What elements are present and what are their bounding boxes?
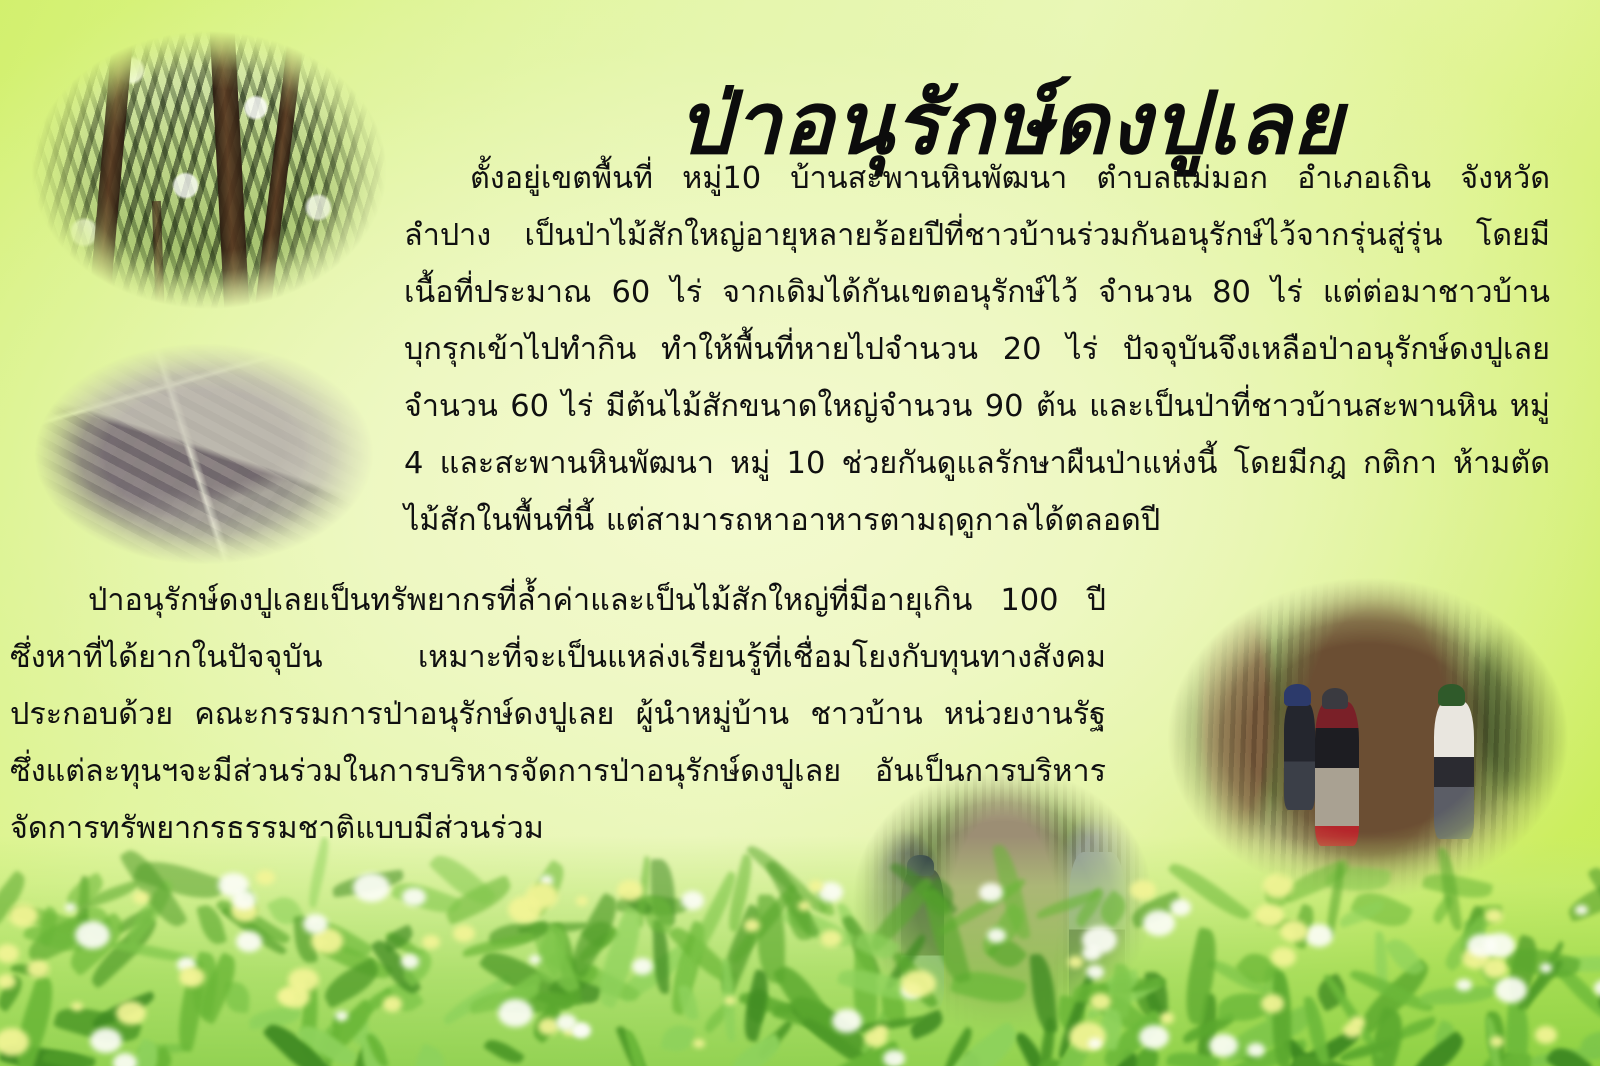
leaf-shape: [556, 965, 601, 997]
leaf-shape: [62, 911, 132, 977]
leaf-shape: [385, 928, 423, 961]
person-figure: [1284, 702, 1315, 810]
tree-trunk-shape: [254, 33, 304, 320]
leaf-shape: [192, 952, 243, 1025]
leaf-shape: [285, 1025, 341, 1066]
leaf-shape: [1419, 986, 1495, 1005]
blossom-shape: [1280, 920, 1308, 942]
leaf-shape: [1270, 1027, 1364, 1066]
leaf-shape: [267, 891, 305, 930]
blossom-shape: [90, 1028, 122, 1053]
leaf-shape: [118, 844, 188, 935]
leaf-shape: [764, 856, 820, 941]
leaf-shape: [667, 920, 736, 989]
leaf-shape: [621, 887, 654, 919]
leaf-shape: [671, 954, 698, 996]
leaf-shape: [1504, 941, 1581, 984]
leaf-shape: [1383, 933, 1426, 981]
blossom-shape: [540, 875, 554, 886]
blossom-shape: [1467, 934, 1496, 958]
blossom-shape: [498, 999, 533, 1027]
leaf-shape: [0, 870, 32, 926]
leaf-shape: [116, 906, 159, 933]
leaf-shape: [581, 915, 619, 953]
leaf-shape: [23, 919, 89, 958]
leaf-shape: [381, 924, 417, 953]
leaf-shape: [215, 894, 291, 951]
leaf-shape: [773, 959, 843, 1048]
leaf-shape: [298, 980, 321, 1058]
leaf-shape: [700, 1002, 733, 1034]
leaf-shape: [1519, 941, 1568, 1011]
leaf-shape: [188, 952, 222, 1019]
leaf-shape: [370, 935, 422, 999]
leaf-shape: [726, 884, 801, 965]
blossom-shape: [1261, 994, 1284, 1012]
cap-shape: [907, 855, 933, 876]
blossom-shape: [422, 935, 439, 949]
intro-paragraph-text: ตั้งอยู่เขตพื้นที่ หมู่10 บ้านสะพานหินพั…: [404, 161, 1550, 538]
blossom-shape: [724, 996, 736, 1006]
blossom-shape: [0, 974, 16, 989]
leaf-shape: [478, 941, 577, 1018]
cap-shape: [1438, 684, 1464, 706]
leaf-shape: [1258, 967, 1290, 1026]
blossom-shape: [232, 890, 257, 910]
blossom-shape: [573, 1024, 588, 1036]
intro-paragraph: ตั้งอยู่เขตพื้นที่ หมู่10 บ้านสะพานหินพั…: [404, 150, 1550, 549]
person-figure: [1069, 852, 1125, 1020]
leaf-shape: [396, 948, 437, 988]
blossom-shape: [529, 955, 541, 964]
leaf-shape: [1304, 995, 1330, 1066]
leaf-shape: [1323, 971, 1384, 1060]
blossom-shape: [576, 896, 588, 906]
leaf-shape: [384, 976, 425, 1018]
leaf-shape: [724, 853, 757, 932]
leaf-shape: [1482, 1052, 1531, 1066]
leaf-shape: [552, 921, 583, 1007]
leaf-shape: [318, 957, 384, 1009]
blossom-shape: [179, 967, 204, 987]
leaf-shape: [365, 1031, 389, 1066]
leaf-shape: [293, 915, 317, 964]
leaf-shape: [721, 959, 735, 1042]
leaf-shape: [590, 907, 650, 1009]
leaf-shape: [713, 903, 768, 995]
person-figure: [1315, 702, 1359, 846]
leaf-shape: [1364, 1007, 1410, 1066]
leaf-shape: [1271, 972, 1292, 1066]
blossom-shape: [1495, 977, 1527, 1002]
blossom-shape: [693, 1039, 705, 1049]
villagers-at-big-teak-photo: [1148, 558, 1588, 918]
blossom-shape: [632, 958, 653, 975]
leaf-shape: [85, 915, 163, 989]
leaf-shape: [840, 1059, 904, 1066]
blossom-shape: [617, 880, 643, 901]
leaf-shape: [439, 974, 514, 1025]
leaf-shape: [1502, 934, 1544, 1004]
leaf-shape: [73, 875, 92, 947]
leaf-shape: [468, 984, 541, 1015]
blossom-shape: [1271, 947, 1296, 967]
aerial-satellite-map-photo: [18, 330, 390, 578]
leaf-shape: [1166, 1048, 1221, 1066]
leaf-shape: [310, 914, 374, 964]
cap-shape: [1284, 684, 1310, 706]
leaf-shape: [223, 982, 250, 1014]
blossom-shape: [27, 960, 49, 977]
leaf-shape: [489, 920, 550, 945]
leaf-shape: [1102, 1049, 1144, 1066]
leaf-shape: [1339, 1039, 1396, 1062]
blossom-shape: [0, 944, 19, 963]
leaf-shape: [1462, 916, 1505, 993]
leaf-shape: [90, 991, 157, 1029]
leaf-shape: [321, 1015, 345, 1066]
leaf-shape: [1552, 955, 1600, 973]
blossom-shape: [1594, 980, 1600, 997]
blossom-shape: [526, 883, 558, 908]
leaf-shape: [42, 1046, 96, 1066]
leaf-shape: [574, 927, 621, 964]
leaf-shape: [85, 880, 141, 909]
leaf-shape: [1353, 958, 1437, 1037]
leaf-shape: [0, 1038, 87, 1066]
blossom-shape: [353, 873, 389, 902]
leaf-shape: [786, 893, 811, 941]
summary-paragraph: ป่าอนุรักษ์ดงปูเลยเป็นทรัพยากรที่ล้ำค่าแ…: [10, 572, 1106, 857]
leaf-shape: [410, 1044, 451, 1066]
blossom-shape: [133, 891, 150, 905]
leaf-shape: [122, 1045, 177, 1066]
leaf-shape: [1485, 1016, 1501, 1066]
leaf-shape: [261, 1016, 333, 1066]
blossom-shape: [1209, 1034, 1238, 1057]
leaf-shape: [1181, 1013, 1237, 1044]
blossom-shape: [231, 900, 259, 922]
leaf-shape: [1431, 1019, 1459, 1053]
leaf-shape: [1207, 955, 1268, 999]
leaf-shape: [1225, 1039, 1309, 1066]
blossom-shape: [277, 989, 296, 1004]
tree-trunk-shape: [88, 39, 133, 314]
cap-shape: [1322, 688, 1348, 710]
blossom-shape: [1490, 1036, 1504, 1047]
leaf-shape: [240, 885, 258, 916]
blossom-shape: [303, 914, 328, 934]
leaf-shape: [0, 974, 27, 1013]
leaf-shape: [615, 942, 697, 1004]
leaf-shape: [615, 892, 688, 919]
leaf-shape: [501, 972, 545, 1009]
leaf-shape: [350, 1014, 370, 1045]
leaf-shape: [1035, 1049, 1096, 1066]
blossom-shape: [116, 1001, 146, 1025]
blossom-shape: [1540, 963, 1552, 973]
blossom-shape: [556, 1014, 577, 1031]
forest-canopy-image: [14, 14, 404, 326]
leaf-shape: [138, 1044, 189, 1054]
blossom-shape: [218, 873, 249, 898]
leaf-shape: [313, 998, 379, 1062]
villagers-at-big-teak-image: [1148, 558, 1588, 918]
leaf-shape: [1226, 1043, 1259, 1065]
blossom-shape: [75, 921, 110, 949]
leaf-shape: [429, 847, 498, 913]
leaf-shape: [133, 853, 226, 908]
leaf-shape: [120, 879, 179, 949]
leaf-shape: [1396, 1016, 1438, 1040]
leaf-shape: [10, 961, 47, 979]
tree-trunk-shape: [152, 201, 166, 326]
leaf-shape: [359, 1031, 388, 1066]
leaf-shape: [521, 860, 571, 918]
blossom-shape: [1350, 1016, 1365, 1028]
leaf-shape: [1281, 1033, 1334, 1066]
blossom-shape: [335, 1011, 348, 1021]
leaf-shape: [562, 892, 626, 979]
blossom-shape: [1483, 958, 1508, 978]
blossom-shape: [538, 1018, 559, 1035]
leaf-shape: [739, 969, 775, 1043]
blossom-shape: [401, 954, 420, 969]
leaf-shape: [1526, 1046, 1600, 1066]
forest-canopy-photo: [14, 14, 404, 326]
blossom-shape: [681, 891, 704, 910]
leaf-shape: [548, 971, 603, 1011]
leaf-shape: [129, 1038, 164, 1066]
blossom-shape: [1462, 947, 1490, 970]
leaf-shape: [625, 1029, 650, 1066]
leaf-shape: [743, 987, 774, 1024]
leaf-shape: [772, 999, 831, 1033]
leaf-shape: [642, 895, 675, 933]
blossom-shape: [744, 919, 760, 932]
blossom-shape: [1343, 1023, 1363, 1039]
blossom-shape: [1484, 933, 1515, 958]
leaf-shape: [248, 1006, 302, 1029]
leaf-shape: [7, 974, 60, 1066]
aerial-satellite-map-image: [18, 330, 390, 578]
leaf-shape: [634, 855, 654, 927]
leaf-shape: [111, 938, 191, 967]
blossom-shape: [1305, 924, 1333, 947]
leaf-shape: [1192, 994, 1221, 1066]
blossom-shape: [71, 1002, 82, 1011]
blossom-shape: [1247, 1043, 1265, 1058]
blossom-shape: [402, 888, 425, 907]
leaf-shape: [390, 876, 462, 921]
leaf-shape: [678, 984, 699, 1021]
blossom-shape: [311, 928, 343, 954]
leaf-shape: [1217, 991, 1270, 1021]
blossom-shape: [453, 925, 475, 943]
leaf-shape: [1589, 939, 1600, 1014]
leaf-shape: [755, 1019, 795, 1059]
leaf-shape: [1375, 932, 1388, 993]
blossom-shape: [177, 957, 196, 972]
leaf-shape: [319, 935, 393, 985]
blossom-shape: [563, 1027, 575, 1037]
leaf-shape: [82, 904, 114, 940]
blossom-shape: [113, 1053, 138, 1066]
blossom-shape: [256, 870, 275, 885]
blossom-shape: [809, 880, 823, 891]
leaf-shape: [441, 875, 516, 926]
leaf-shape: [35, 905, 61, 945]
leaf-shape: [1291, 1047, 1357, 1066]
leaf-shape: [1405, 1030, 1471, 1066]
leaf-shape: [738, 987, 794, 1019]
leaf-shape: [1549, 955, 1600, 1025]
leaf-shape: [362, 987, 395, 1013]
poster-root: ป่าอนุรักษ์ดงปูเลย ตั้งอยู่เขตพื้นที่ หม…: [0, 0, 1600, 1066]
leaf-shape: [528, 918, 580, 997]
blossom-shape: [0, 1028, 29, 1055]
leaf-shape: [1312, 973, 1351, 1012]
leaf-shape: [1235, 945, 1281, 990]
tree-trunk-shape: [209, 20, 250, 320]
leaf-shape: [172, 959, 210, 1052]
leaf-shape: [499, 990, 576, 1014]
leaf-shape: [1348, 964, 1434, 1018]
person-figure: [1434, 702, 1474, 839]
blossom-shape: [1456, 979, 1472, 992]
leaf-shape: [527, 1002, 566, 1044]
leaf-shape: [684, 871, 743, 964]
leaf-shape: [62, 872, 109, 912]
blossom-shape: [281, 985, 310, 1008]
blossom-shape: [572, 1023, 591, 1038]
leaf-shape: [461, 932, 535, 957]
leaf-shape: [815, 887, 835, 917]
leaf-shape: [1514, 959, 1566, 1011]
leaf-shape: [331, 869, 405, 897]
leaf-shape: [951, 1051, 985, 1066]
leaf-shape: [660, 1022, 696, 1055]
leaf-shape: [616, 1023, 651, 1066]
leaf-shape: [1580, 1030, 1600, 1060]
leaf-shape: [652, 919, 669, 993]
leaf-shape: [53, 999, 143, 1050]
blossom-shape: [65, 903, 77, 912]
leaf-shape: [650, 859, 675, 925]
blossom-shape: [508, 896, 542, 924]
leaf-shape: [1439, 915, 1494, 972]
blossom-shape: [184, 972, 197, 983]
leaf-shape: [1545, 1041, 1594, 1066]
leaf-shape: [757, 895, 785, 983]
leaf-shape: [7, 899, 93, 942]
leaf-shape: [1179, 926, 1224, 1025]
leaf-shape: [727, 1033, 786, 1066]
blossom-shape: [288, 968, 319, 992]
leaf-shape: [1586, 862, 1600, 940]
leaf-shape: [221, 903, 288, 960]
leaf-shape: [529, 924, 574, 985]
blossom-shape: [236, 931, 262, 952]
leaf-shape: [196, 902, 228, 947]
leaf-shape: [1486, 1053, 1523, 1066]
blossom-shape: [883, 1050, 905, 1066]
leaf-shape: [483, 1034, 525, 1066]
leaf-shape: [518, 922, 587, 933]
blossom-shape: [1535, 1026, 1557, 1044]
leaf-shape: [348, 1038, 390, 1066]
person-figure: [901, 870, 944, 1008]
summary-paragraph-text: ป่าอนุรักษ์ดงปูเลยเป็นทรัพยากรที่ล้ำค่าแ…: [10, 583, 1106, 846]
leaf-shape: [1220, 1002, 1322, 1064]
blossom-shape: [798, 901, 810, 910]
blossom-shape: [383, 996, 402, 1011]
leaf-shape: [1487, 1011, 1506, 1061]
leaf-shape: [546, 945, 640, 1010]
leaf-shape: [664, 920, 712, 1016]
blossom-shape: [9, 904, 38, 927]
leaf-shape: [23, 911, 97, 965]
leaf-shape: [1502, 1001, 1531, 1066]
leaf-shape: [296, 1018, 358, 1066]
